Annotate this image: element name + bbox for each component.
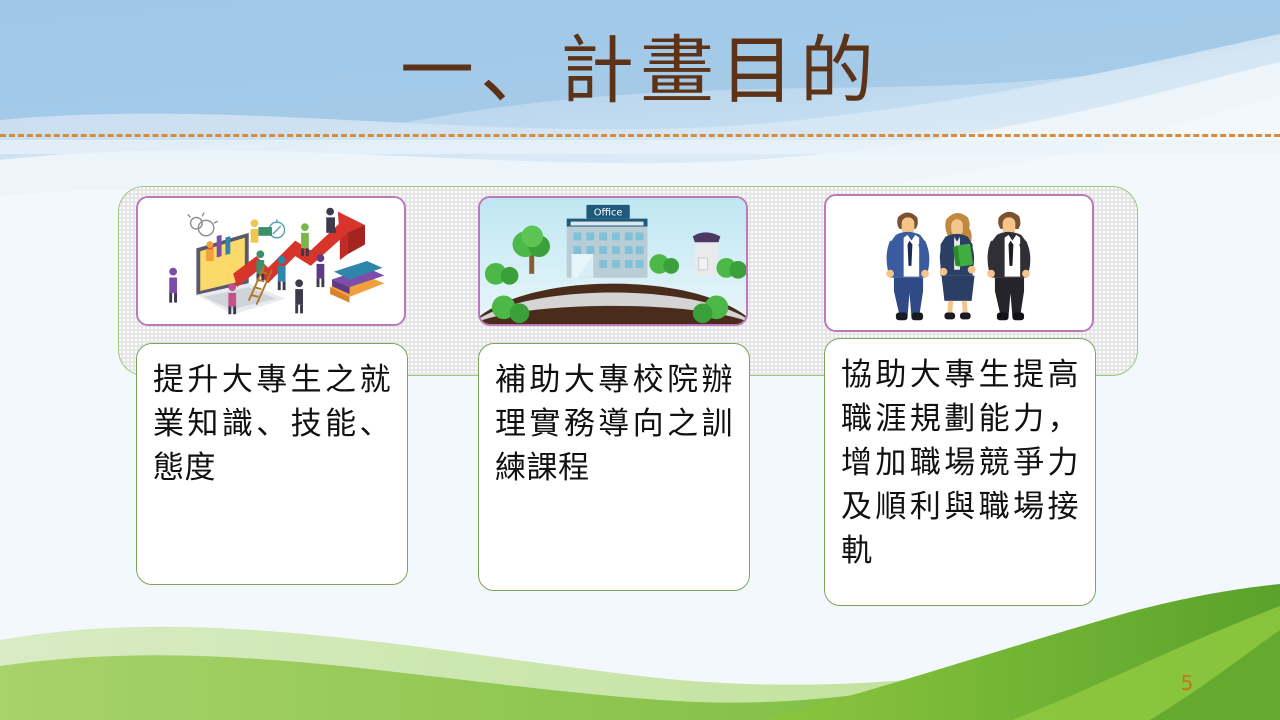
- isometric-learning-growth-illustration[interactable]: [136, 196, 406, 326]
- picture-1-graphic: [138, 198, 404, 324]
- page-number: 5: [1172, 671, 1202, 695]
- objective-card-1: 提升大專生之就業知識、技能、態度: [136, 343, 408, 585]
- objective-card-3: 協助大專生提高職涯規劃能力，增加職場競爭力及順利與職場接軌: [824, 338, 1096, 606]
- office-building-illustration[interactable]: Office: [478, 196, 748, 326]
- title-divider-rule: [0, 134, 1280, 137]
- picture-3-graphic: [826, 196, 1092, 330]
- business-people-illustration[interactable]: [824, 194, 1094, 332]
- objective-card-2: 補助大專校院辦理實務導向之訓練課程: [478, 343, 750, 591]
- slide-canvas: 一、計畫目的: [0, 0, 1280, 720]
- office-sign-label: Office: [594, 208, 623, 219]
- slide-title: 一、計畫目的: [0, 26, 1280, 116]
- picture-2-graphic: Office: [480, 198, 746, 324]
